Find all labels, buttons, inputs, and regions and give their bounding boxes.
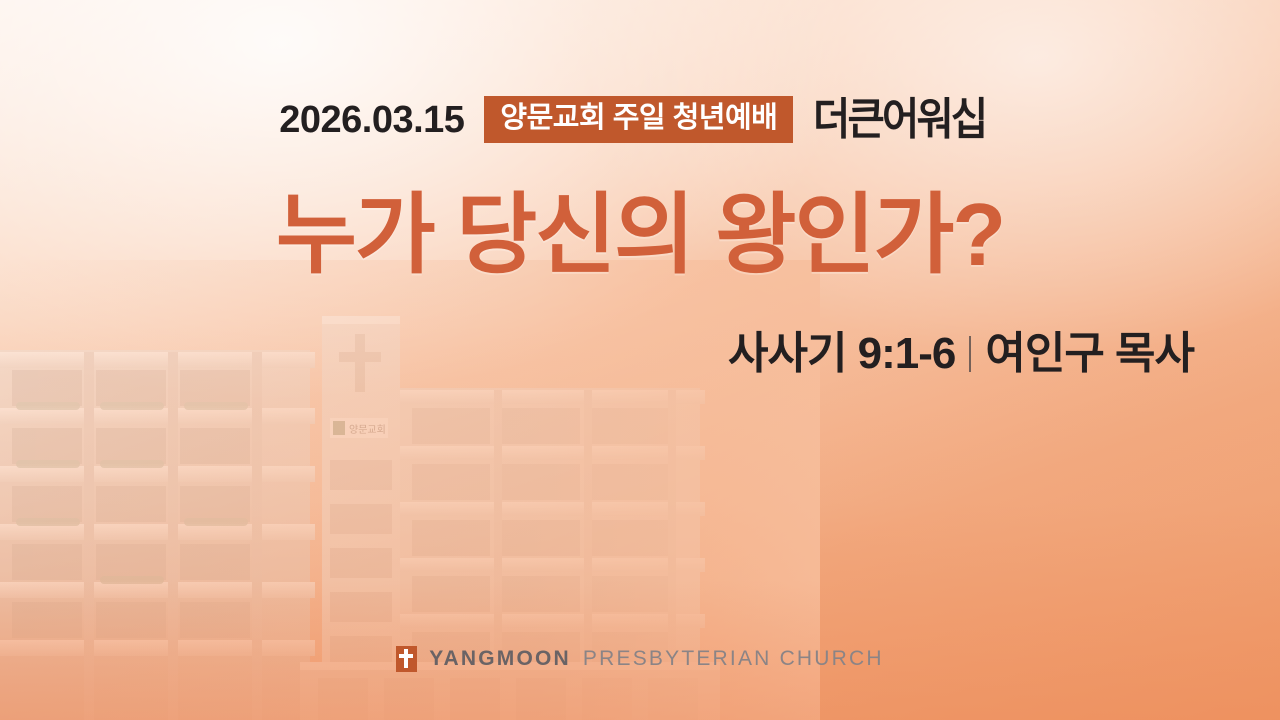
church-name: YANGMOON — [429, 647, 571, 671]
svg-text:양문교회: 양문교회 — [349, 424, 386, 436]
sermon-title: 누가 당신의 왕인가? — [0, 186, 1280, 285]
church-subtitle: PRESBYTERIAN CHURCH — [583, 647, 884, 671]
divider-icon — [969, 336, 971, 372]
worship-logotype: 더큰어워십 — [813, 98, 985, 142]
scripture-line: 사사기 9:1-6 여인구 목사 — [728, 332, 1194, 376]
service-badge: 양문교회 주일 청년예배 — [484, 96, 793, 143]
scripture-reference: 사사기 9:1-6 — [728, 332, 955, 376]
cross-icon — [396, 646, 417, 672]
speaker-name: 여인구 목사 — [985, 332, 1194, 376]
service-date: 2026.03.15 — [279, 101, 464, 139]
footer: YANGMOON PRESBYTERIAN CHURCH — [0, 646, 1280, 672]
header-row: 2026.03.15 양문교회 주일 청년예배 더큰어워십 — [0, 96, 1280, 143]
background-highlight-right — [576, 0, 1280, 360]
sermon-slide: 양문교회 — [0, 0, 1280, 720]
